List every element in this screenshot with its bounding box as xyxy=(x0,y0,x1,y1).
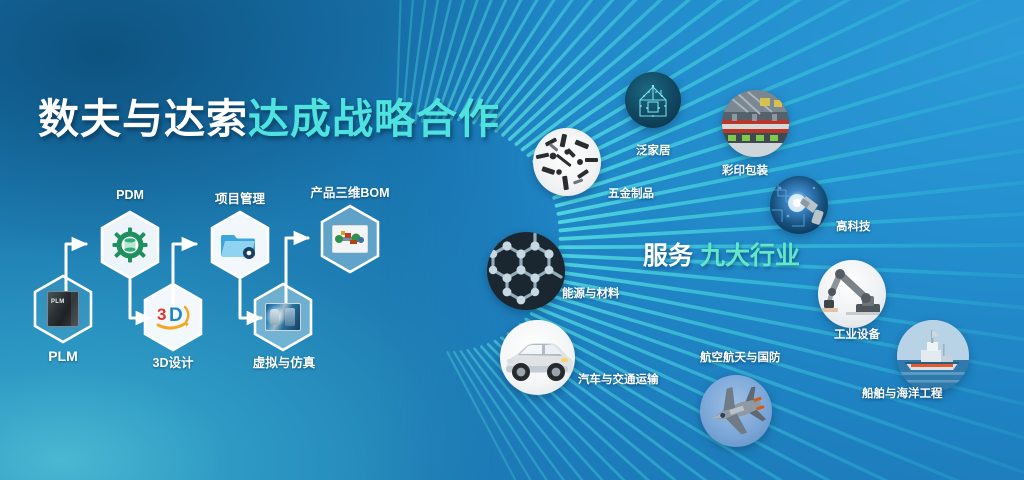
banner-subheadline: 服务 九大行业 xyxy=(643,236,800,272)
industry-label-marine: 船舶与海洋工程 xyxy=(862,385,943,401)
industry-label-printing: 彩印包装 xyxy=(722,162,768,178)
plm-flow-diagram: PLM xyxy=(18,180,418,370)
industry-label-aerospace: 航空航天与国防 xyxy=(700,349,781,365)
flow-label-simulation: 虚拟与仿真 xyxy=(234,352,334,371)
headline-white-text: 数夫与达索 xyxy=(38,96,248,142)
industry-label-automotive: 汽车与交通运输 xyxy=(578,371,659,387)
svg-text:D: D xyxy=(169,305,183,326)
circuit-robot-icon xyxy=(770,176,828,234)
3d-assembly-icon xyxy=(330,219,370,259)
metal-hardware-icon xyxy=(533,128,601,196)
industry-circle-energy[interactable] xyxy=(487,232,565,310)
robot-arm-icon xyxy=(818,260,886,328)
wireframe-house-icon xyxy=(625,72,681,128)
flow-node-pdm[interactable] xyxy=(99,210,161,280)
fighter-jet-icon xyxy=(700,375,772,447)
molecule-lattice-icon xyxy=(487,232,565,310)
car-icon xyxy=(500,320,575,395)
flow-label-bom: 产品三维BOM xyxy=(294,182,406,201)
industry-circle-home[interactable] xyxy=(625,72,681,128)
flow-label-project-management: 项目管理 xyxy=(197,188,283,207)
industry-label-energy: 能源与材料 xyxy=(562,285,620,301)
subheadline-accent-text: 九大行业 xyxy=(700,242,800,270)
flow-node-project-management[interactable] xyxy=(209,210,271,280)
folder-gear-icon xyxy=(220,225,260,265)
flow-label-plm: PLM xyxy=(32,348,94,364)
banner-headline: 数夫与达索达成战略合作 xyxy=(38,85,500,145)
industry-label-hightech: 高科技 xyxy=(836,218,871,234)
industry-label-home: 泛家居 xyxy=(636,142,671,158)
industry-circle-aerospace[interactable] xyxy=(700,375,772,447)
svg-text:3: 3 xyxy=(157,305,166,324)
flow-node-3d[interactable]: 3 D xyxy=(142,282,204,352)
flow-label-3d: 3D设计 xyxy=(127,352,219,371)
server-tower-icon xyxy=(43,289,83,329)
simulation-photo-icon xyxy=(263,297,303,337)
naval-ship-icon xyxy=(897,320,969,392)
industry-label-equipment: 工业设备 xyxy=(834,326,880,342)
industry-circle-hardware[interactable] xyxy=(533,128,601,196)
printing-press-icon xyxy=(722,90,789,157)
banner-stage: 数夫与达索达成战略合作 PLM xyxy=(0,0,1024,480)
flow-node-plm[interactable] xyxy=(32,274,94,344)
industry-circle-automotive[interactable] xyxy=(500,320,575,395)
industry-label-hardware: 五金制品 xyxy=(608,185,654,201)
subheadline-white-text: 服务 xyxy=(643,242,693,270)
flow-label-pdm: PDM xyxy=(89,188,171,202)
3d-design-icon: 3 D xyxy=(153,297,193,337)
industry-circle-hightech[interactable] xyxy=(770,176,828,234)
industry-circle-equipment[interactable] xyxy=(818,260,886,328)
headline-accent-text: 达成战略合作 xyxy=(248,96,500,142)
gear-database-icon xyxy=(110,225,150,265)
industry-circle-printing[interactable] xyxy=(722,90,789,157)
flow-node-bom[interactable] xyxy=(319,204,381,274)
industry-circle-marine[interactable] xyxy=(897,320,969,392)
flow-node-simulation[interactable] xyxy=(252,282,314,352)
